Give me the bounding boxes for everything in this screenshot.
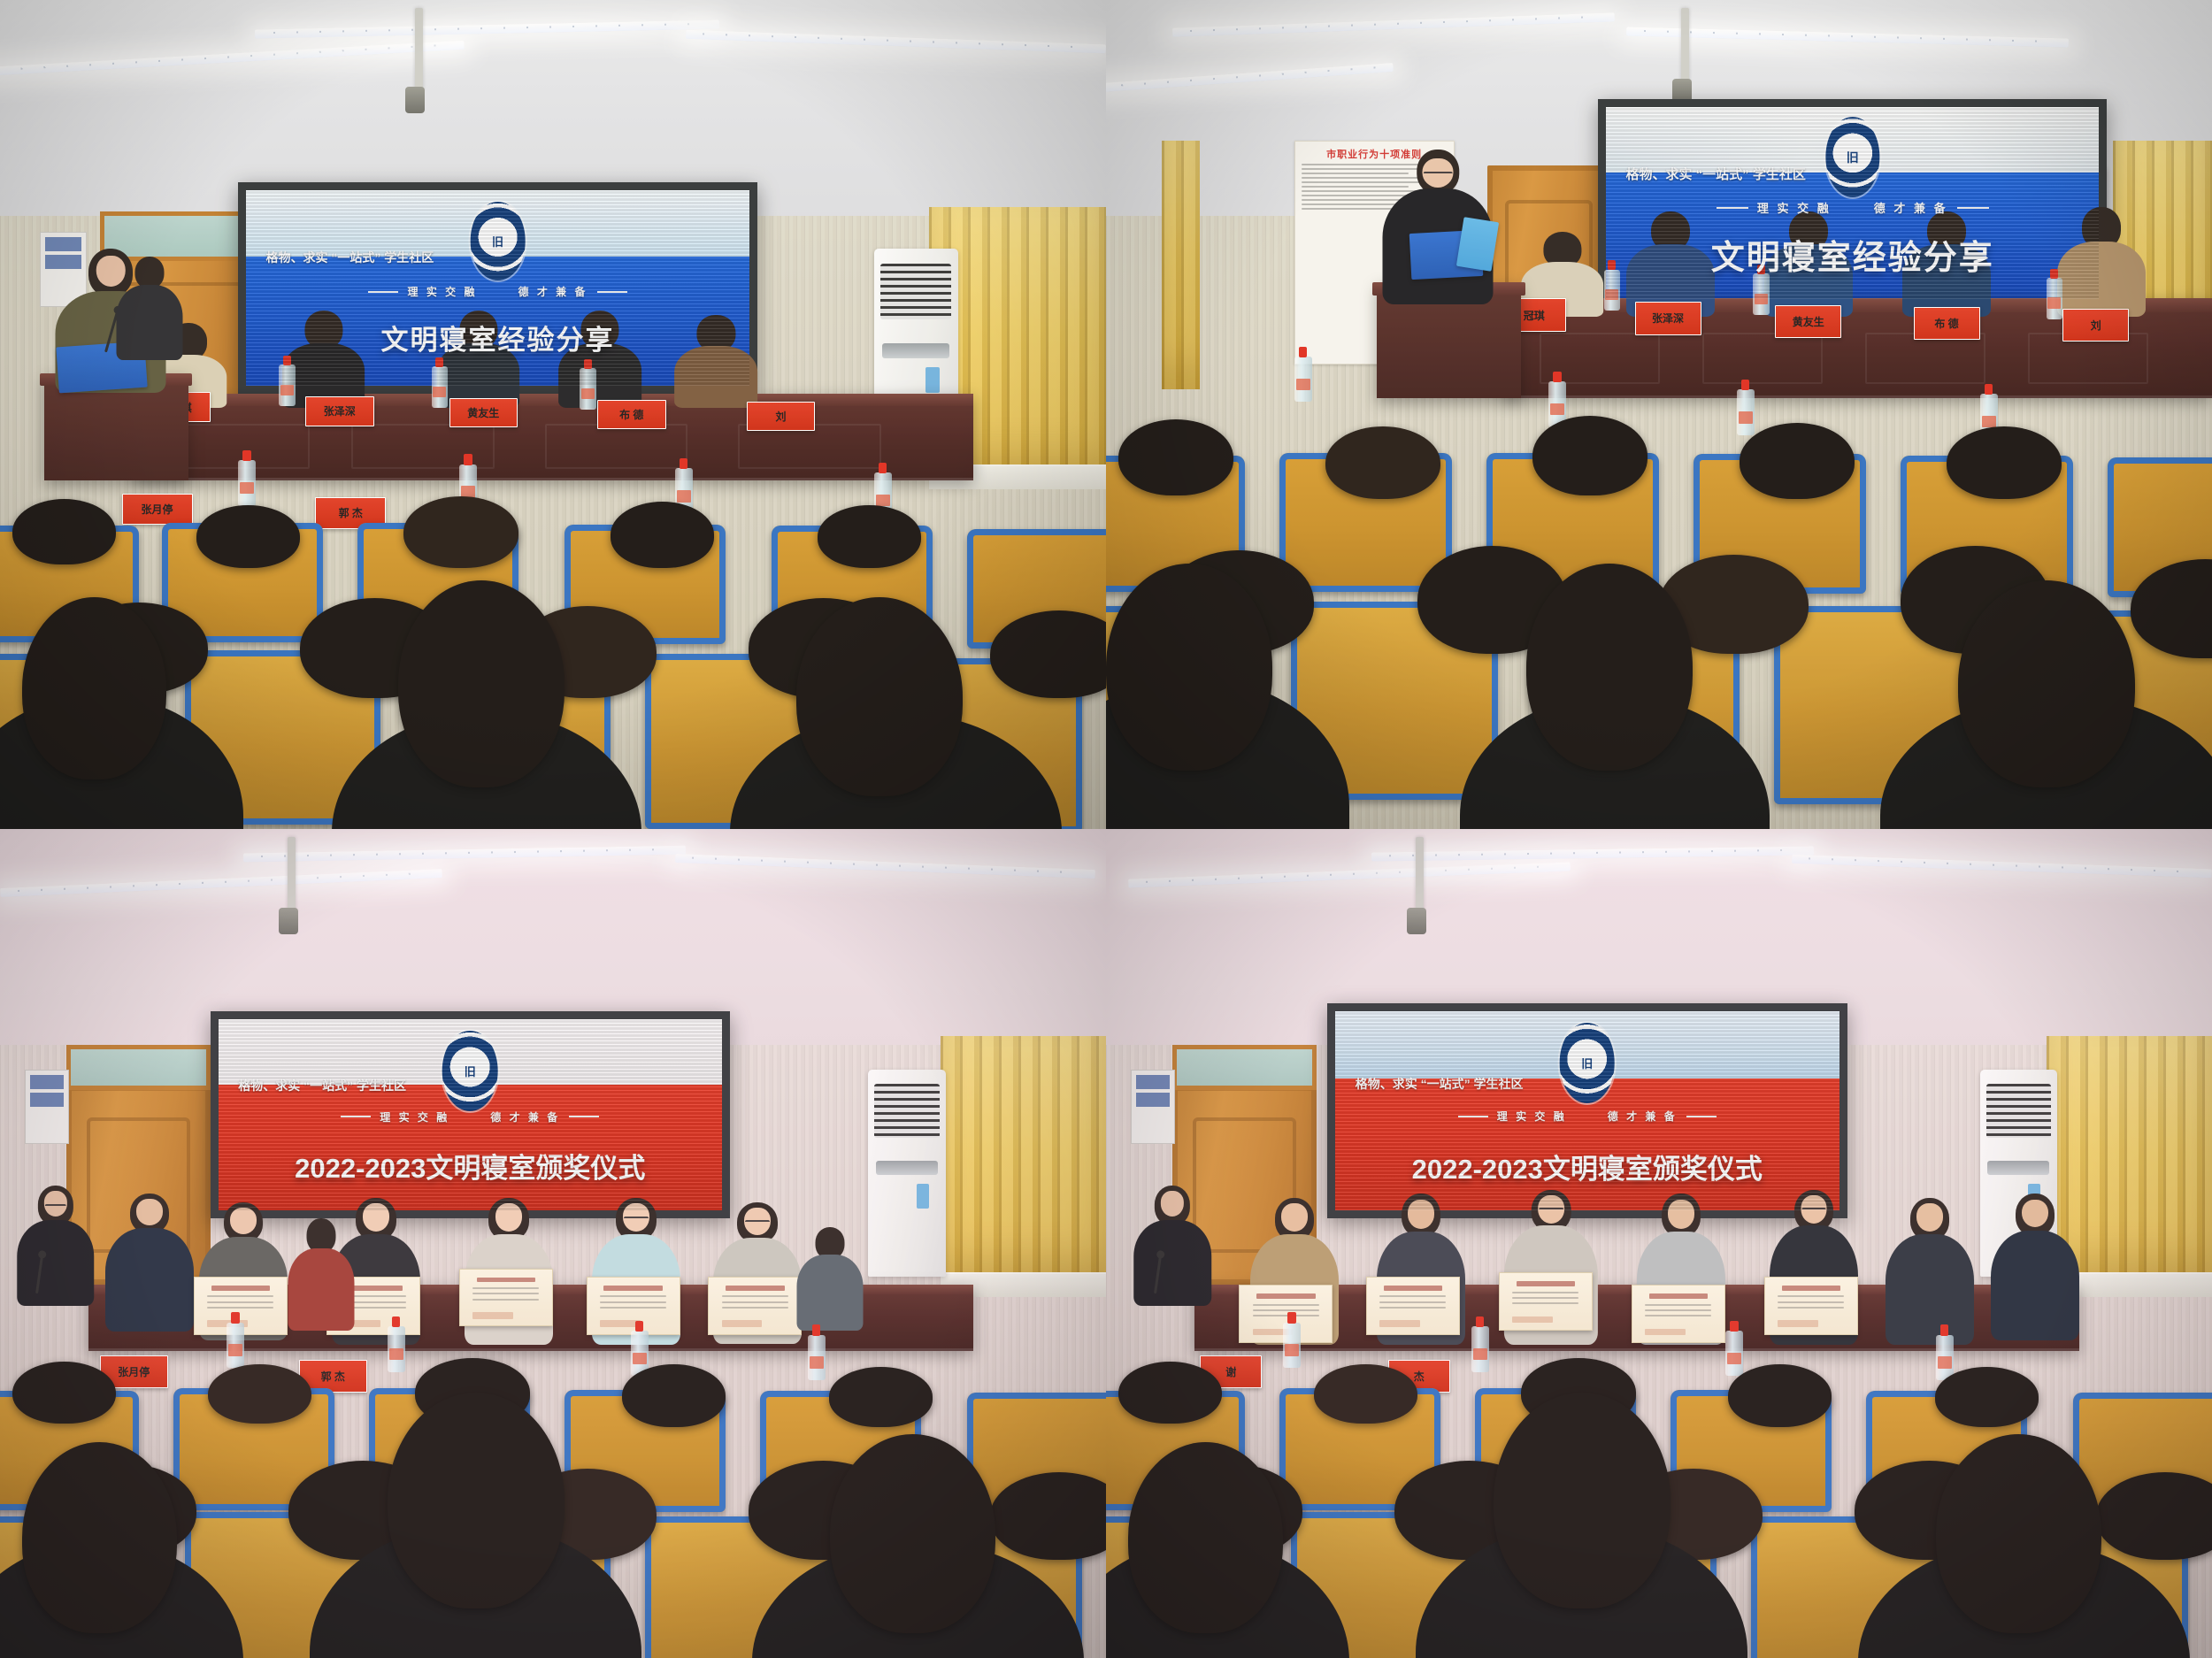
name-placard: 布 德	[1914, 307, 1980, 340]
projector-icon	[279, 908, 298, 934]
screen-title: 2022-2023文明寝室颁奖仪式	[1335, 1147, 1839, 1186]
foreground-attendee-head	[830, 1434, 996, 1633]
water-bottle	[238, 460, 256, 506]
screen-slogan-a: 理 实 交 融	[407, 284, 477, 299]
school-emblem-icon: 旧	[1559, 1023, 1615, 1102]
water-bottle	[1283, 1323, 1301, 1369]
foreground-attendee-head	[1936, 1434, 2102, 1633]
event-host	[17, 1186, 95, 1301]
screen-slogan: 理 实 交 融 德 才 兼 备	[219, 1109, 723, 1125]
water-bottle	[227, 1323, 244, 1369]
collage-panel-top-right: 市职业行为十项准则 旧 格物、求	[1106, 0, 2212, 829]
glasses-icon	[745, 1220, 770, 1227]
certificate	[708, 1277, 802, 1335]
collage-panel-bottom-right: 旧 格物、求实 “一站式” 学生社区 理 实 交 融 德 才 兼 备 2022-…	[1106, 829, 2212, 1658]
glasses-icon	[44, 1204, 66, 1210]
screen-title: 文明寝室经验分享	[1606, 230, 2099, 279]
led-screen: 旧 格物、求实 “一站式” 学生社区 理 实 交 融 德 才 兼 备 2022-…	[1327, 1003, 1847, 1219]
door-transom-window	[1172, 1045, 1317, 1091]
foreground-attendee-head	[1958, 580, 2135, 787]
window-curtain	[941, 1036, 1107, 1285]
projector-icon	[405, 87, 425, 113]
name-placard: 张泽深	[305, 396, 374, 426]
screen-slogan-a: 理 实 交 融	[1497, 1109, 1567, 1124]
host-torso	[1133, 1220, 1211, 1306]
emblem-label: 旧	[1847, 149, 1859, 166]
name-placard: 黄友生	[449, 398, 518, 428]
foreground-attendee-head	[1526, 564, 1693, 771]
screen-slogan-a: 理 实 交 融	[1757, 199, 1832, 216]
water-bottle	[388, 1326, 405, 1372]
led-screen: 旧 格物、求实 “一站式” 学生社区 理 实 交 融 德 才 兼 备 2022-…	[211, 1011, 731, 1218]
air-conditioner	[868, 1070, 946, 1277]
foreground-attendee-head	[1106, 564, 1272, 771]
foreground-attendee-head	[1494, 1393, 1671, 1608]
host-face	[1161, 1191, 1184, 1217]
head-table	[133, 394, 973, 480]
projector-mount-icon	[288, 837, 296, 911]
screen-slogan-b: 德 才 兼 备	[490, 1109, 560, 1125]
screen-header-left: 格物、求实 “一站式” 学生社区	[1626, 165, 1806, 183]
projector-mount-icon	[1416, 837, 1424, 911]
seated-attendee	[796, 1227, 863, 1326]
projector-icon	[1407, 908, 1426, 934]
photo-collage: 旧 格物、求实 “一站式” 学生社区 理 实 交 融 德 才 兼 备 文明寝室经…	[0, 0, 2212, 1658]
emblem-label: 旧	[1581, 1055, 1593, 1071]
school-emblem-icon: 旧	[1825, 117, 1879, 197]
water-bottle	[1294, 357, 1312, 403]
certificate	[1764, 1277, 1858, 1335]
wall-notice-frame	[1131, 1070, 1175, 1144]
screen-slogan-a: 理 实 交 融	[380, 1109, 449, 1125]
name-placard: 张泽深	[1635, 302, 1701, 334]
collage-panel-top-left: 旧 格物、求实 “一站式” 学生社区 理 实 交 融 德 才 兼 备 文明寝室经…	[0, 0, 1106, 829]
name-placard: 刘	[2062, 309, 2129, 342]
emblem-label: 旧	[492, 233, 503, 249]
projector-mount-icon	[1681, 8, 1689, 82]
award-presenter	[1991, 1194, 2079, 1334]
screen-title: 2022-2023文明寝室颁奖仪式	[219, 1146, 723, 1186]
screen-title: 文明寝室经验分享	[246, 318, 750, 357]
wall-notice-frame	[25, 1070, 69, 1144]
name-placard: 黄友生	[1775, 305, 1841, 338]
event-host	[1133, 1186, 1211, 1301]
led-screen: 旧 格物、求实 “一站式” 学生社区 理 实 交 融 德 才 兼 备 文明寝室经…	[238, 182, 758, 394]
seated-attendee	[288, 1218, 354, 1326]
water-bottle	[1471, 1326, 1489, 1372]
awardee	[1886, 1198, 1974, 1339]
certificate	[459, 1269, 553, 1327]
certificate	[587, 1277, 680, 1335]
projector-mount-icon	[415, 8, 423, 91]
screen-slogan-b: 德 才 兼 备	[1874, 199, 1948, 216]
screen-slogan-b: 德 才 兼 备	[1608, 1109, 1678, 1124]
water-bottle	[1725, 1331, 1743, 1377]
door-transom-window	[66, 1045, 211, 1091]
water-bottle	[1737, 389, 1755, 435]
school-emblem-icon: 旧	[470, 202, 526, 280]
name-placard: 刘	[747, 402, 816, 432]
foreground-attendee-head	[388, 1393, 565, 1608]
glasses-icon	[1424, 172, 1453, 179]
glasses-icon	[624, 1217, 649, 1224]
led-screen: 旧 格物、求实 “一站式” 学生社区 理 实 交 融 德 才 兼 备 文明寝室经…	[1598, 99, 2107, 306]
host-torso	[17, 1220, 95, 1306]
school-emblem-icon: 旧	[442, 1031, 498, 1111]
collage-panel-bottom-left: 旧 格物、求实 “一站式” 学生社区 理 实 交 融 德 才 兼 备 2022-…	[0, 829, 1106, 1658]
foreground-attendee-head	[22, 597, 166, 779]
water-bottle	[808, 1335, 826, 1381]
screen-slogan: 理 实 交 融 德 才 兼 备	[1606, 199, 2099, 216]
screen-header-left: 格物、求实 “一站式” 学生社区	[266, 249, 434, 266]
award-presenter	[105, 1194, 194, 1326]
certificate	[1366, 1277, 1460, 1335]
emblem-label: 旧	[465, 1063, 476, 1079]
foreground-attendee-head	[796, 597, 963, 796]
window-curtain	[1162, 141, 1201, 389]
screen-slogan-b: 德 才 兼 备	[518, 284, 588, 299]
foreground-attendee-head	[1128, 1442, 1283, 1633]
standing-attendee	[116, 257, 182, 356]
screen-slogan: 理 实 交 融 德 才 兼 备	[1335, 1109, 1839, 1124]
certificate	[1632, 1285, 1725, 1343]
screen-slogan: 理 实 交 融 德 才 兼 备	[246, 284, 750, 299]
screen-header-left: 格物、求实 “一站式” 学生社区	[238, 1077, 406, 1094]
foreground-attendee-head	[398, 580, 565, 787]
name-placard: 布 德	[597, 400, 666, 430]
foreground-attendee-head	[22, 1442, 177, 1633]
screen-header-left: 格物、求实 “一站式” 学生社区	[1356, 1075, 1524, 1093]
certificate	[1499, 1272, 1593, 1331]
water-bottle	[1936, 1335, 1954, 1381]
